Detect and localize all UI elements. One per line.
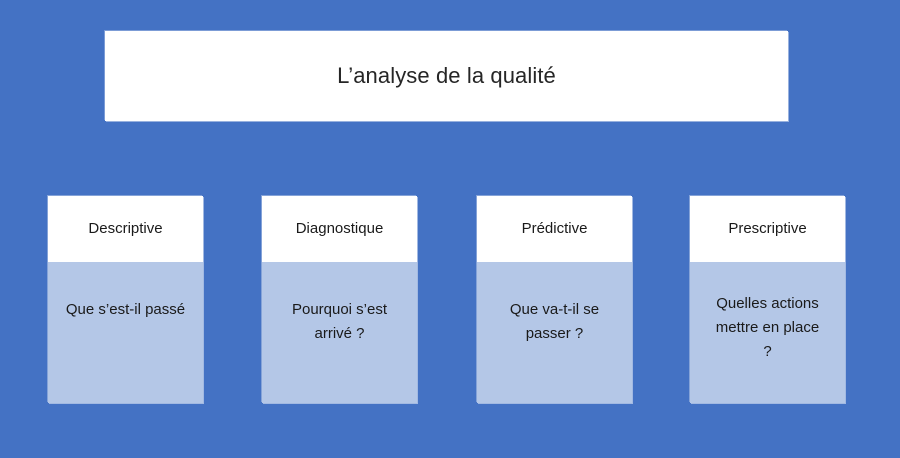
card-title-prescriptive: Prescriptive (728, 220, 806, 238)
slide-canvas: L’analyse de la qualité Descriptive Que … (0, 0, 900, 458)
card-question-diagnostique: Pourquoi s’est arrivé ? (292, 298, 387, 346)
card-predictive[interactable]: Prédictive Que va-t-il se passer ? (477, 196, 632, 403)
card-question-prescriptive: Quelles actions mettre en place ? (716, 292, 819, 364)
card-title-descriptive: Descriptive (88, 220, 162, 238)
analytics-maturity-card-row: Descriptive Que s’est-il passé Diagnosti… (0, 196, 900, 404)
card-diagnostique[interactable]: Diagnostique Pourquoi s’est arrivé ? (262, 196, 417, 403)
card-prescriptive[interactable]: Prescriptive Quelles actions mettre en p… (690, 196, 845, 403)
card-title-diagnostique: Diagnostique (296, 220, 384, 238)
card-body-predictive: Que va-t-il se passer ? (477, 262, 632, 403)
card-body-descriptive: Que s’est-il passé (48, 262, 203, 403)
card-header-prescriptive: Prescriptive (690, 196, 845, 262)
card-body-prescriptive: Quelles actions mettre en place ? (690, 262, 845, 403)
card-question-descriptive: Que s’est-il passé (66, 298, 185, 322)
card-header-predictive: Prédictive (477, 196, 632, 262)
card-descriptive[interactable]: Descriptive Que s’est-il passé (48, 196, 203, 403)
card-body-diagnostique: Pourquoi s’est arrivé ? (262, 262, 417, 403)
card-header-descriptive: Descriptive (48, 196, 203, 262)
title-banner: L’analyse de la qualité (105, 31, 788, 121)
page-title: L’analyse de la qualité (337, 63, 556, 89)
card-title-predictive: Prédictive (522, 220, 588, 238)
card-header-diagnostique: Diagnostique (262, 196, 417, 262)
card-question-predictive: Que va-t-il se passer ? (510, 298, 599, 346)
